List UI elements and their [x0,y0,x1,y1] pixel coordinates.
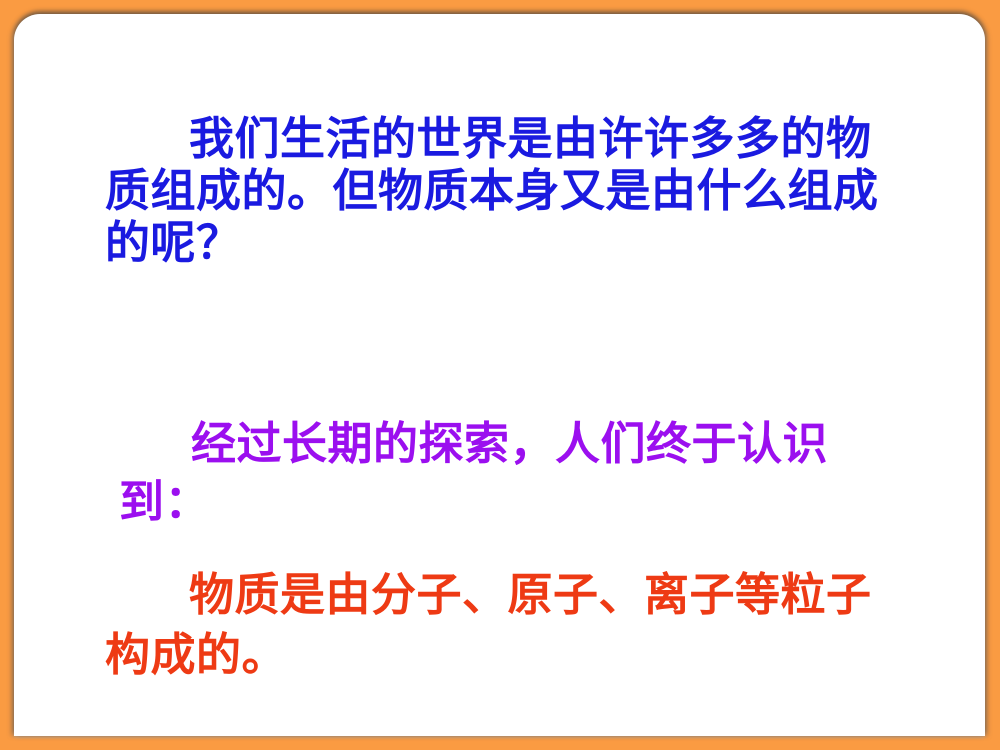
slide-content-panel: 我们生活的世界是由许许多多的物质组成的。但物质本身又是由什么组成的呢？ 经过长期… [14,14,985,736]
paragraph-conclusion: 物质是由分子、原子、离子等粒子构成的。 [105,565,907,685]
paragraph-lead-in: 经过长期的探索，人们终于认识到： [119,415,907,531]
paragraph-intro-question: 我们生活的世界是由许许多多的物质组成的。但物质本身又是由什么组成的呢？ [105,113,907,269]
slide: 我们生活的世界是由许许多多的物质组成的。但物质本身又是由什么组成的呢？ 经过长期… [0,0,1000,750]
slide-body-text: 我们生活的世界是由许许多多的物质组成的。但物质本身又是由什么组成的呢？ 经过长期… [14,14,985,736]
